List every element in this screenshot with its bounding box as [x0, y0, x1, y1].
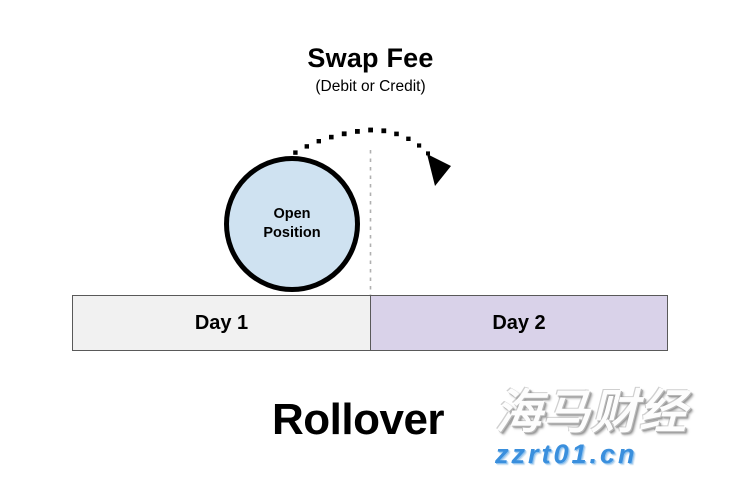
diagram-title: Swap Fee — [0, 44, 741, 72]
rollover-caption: Rollover — [272, 398, 444, 442]
diagram-subtitle: (Debit or Credit) — [0, 78, 741, 95]
timeline-segment-day2: Day 2 — [370, 295, 668, 351]
timeline-segment-day1: Day 1 — [72, 295, 370, 351]
open-position-circle: Open Position — [224, 156, 360, 292]
swap-fee-arrowhead — [427, 154, 451, 186]
watermark-url: zzrt01.cn — [495, 441, 741, 468]
title-block: Swap Fee (Debit or Credit) — [0, 44, 741, 95]
watermark: 海马财经 zzrt01.cn — [495, 388, 741, 468]
open-position-label: Open Position — [263, 205, 320, 243]
timeline-segment-day2-label: Day 2 — [492, 312, 545, 335]
swap-fee-dotted-arc — [293, 128, 430, 156]
diagram-canvas: Swap Fee (Debit or Credit) Open Position — [0, 0, 741, 486]
timeline-segment-day1-label: Day 1 — [195, 312, 248, 335]
timeline-bar: Day 1 Day 2 — [72, 295, 668, 351]
watermark-brand: 海马财经 — [495, 388, 741, 435]
